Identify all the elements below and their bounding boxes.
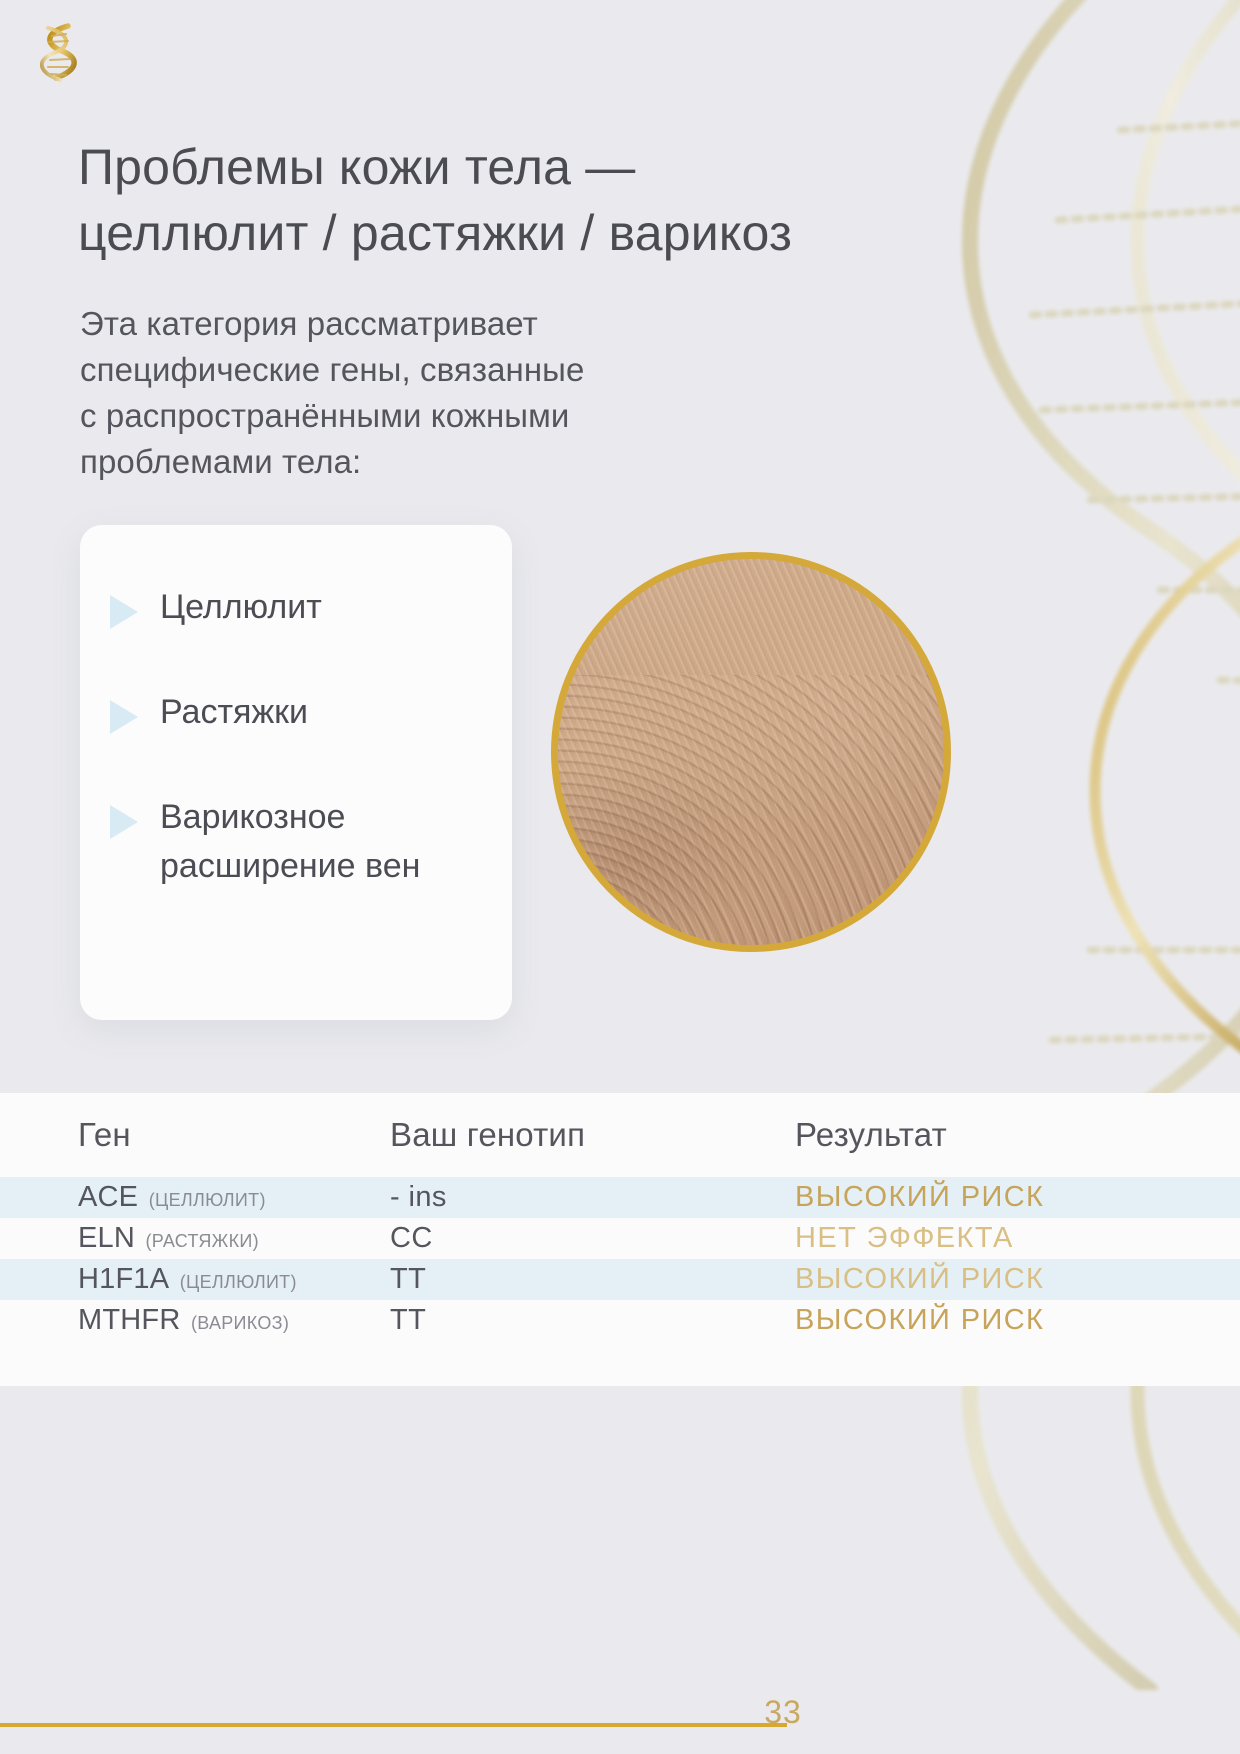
gene-name: ELN: [78, 1222, 135, 1254]
gene-tag: (ЦЕЛЛЮЛИТ): [149, 1190, 266, 1210]
table-row: ELN (РАСТЯЖКИ) CC НЕТ ЭФФЕКТА: [0, 1218, 1240, 1259]
list-item[interactable]: Варикозное расширение вен: [110, 793, 488, 891]
conditions-card: Целлюлит Растяжки Варикозное расширение …: [80, 525, 512, 1020]
cell-genotype: TT: [390, 1263, 795, 1296]
list-item-label: Растяжки: [160, 688, 308, 737]
column-header-gene: Ген: [78, 1116, 390, 1154]
skin-grain-overlay: [558, 559, 944, 945]
triangle-right-icon: [110, 805, 138, 839]
skin-texture-photo: [551, 552, 951, 952]
table-row: ACE (ЦЕЛЛЮЛИТ) - ins ВЫСОКИЙ РИСК: [0, 1177, 1240, 1218]
cell-result: ВЫСОКИЙ РИСК: [795, 1304, 1200, 1337]
page-title-line-1: Проблемы кожи тела —: [78, 139, 635, 195]
triangle-right-icon: [110, 700, 138, 734]
cell-gene: ACE (ЦЕЛЛЮЛИТ): [78, 1181, 390, 1214]
page-number: 33: [733, 1694, 833, 1731]
table-bottom-spacer: [0, 1341, 1240, 1386]
gene-tag: (ЦЕЛЛЮЛИТ): [180, 1272, 297, 1292]
cell-gene: H1F1A (ЦЕЛЛЮЛИТ): [78, 1263, 390, 1296]
table-header-row: Ген Ваш генотип Результат: [0, 1093, 1240, 1177]
list-item-label: Целлюлит: [160, 583, 322, 632]
skin-texture-fill: [558, 559, 944, 945]
list-item[interactable]: Целлюлит: [110, 583, 488, 632]
gene-tag: (ВАРИКОЗ): [191, 1313, 289, 1333]
triangle-right-icon: [110, 595, 138, 629]
cell-result: ВЫСОКИЙ РИСК: [795, 1181, 1200, 1214]
conditions-list: Целлюлит Растяжки Варикозное расширение …: [110, 583, 488, 891]
footer-divider: [0, 1723, 787, 1727]
intro-line-1: Эта категория рассматривает: [80, 305, 538, 342]
cell-genotype: CC: [390, 1222, 795, 1255]
gene-tag: (РАСТЯЖКИ): [145, 1231, 258, 1251]
gene-name: H1F1A: [78, 1263, 169, 1295]
list-item-label: Варикозное расширение вен: [160, 793, 488, 891]
intro-line-2: специфические гены, связанные: [80, 351, 584, 388]
intro-paragraph: Эта категория рассматривает специфически…: [80, 301, 800, 484]
genotype-results-table: Ген Ваш генотип Результат ACE (ЦЕЛЛЮЛИТ)…: [0, 1093, 1240, 1386]
page-title-line-2: целлюлит / растяжки / варикоз: [78, 205, 792, 261]
intro-line-3: с распространёнными кожными: [80, 397, 569, 434]
cell-gene: ELN (РАСТЯЖКИ): [78, 1222, 390, 1255]
cell-gene: MTHFR (ВАРИКОЗ): [78, 1304, 390, 1337]
list-item[interactable]: Растяжки: [110, 688, 488, 737]
table-row: MTHFR (ВАРИКОЗ) TT ВЫСОКИЙ РИСК: [0, 1300, 1240, 1341]
cell-genotype: TT: [390, 1304, 795, 1337]
cell-result: ВЫСОКИЙ РИСК: [795, 1263, 1200, 1296]
column-header-result: Результат: [795, 1116, 1200, 1154]
gene-name: MTHFR: [78, 1304, 180, 1336]
page-title: Проблемы кожи тела — целлюлит / растяжки…: [78, 134, 938, 267]
column-header-genotype: Ваш генотип: [390, 1116, 795, 1154]
dna-helix-icon: [28, 20, 86, 90]
intro-line-4: проблемами тела:: [80, 443, 361, 480]
gene-name: ACE: [78, 1181, 138, 1213]
table-row: H1F1A (ЦЕЛЛЮЛИТ) TT ВЫСОКИЙ РИСК: [0, 1259, 1240, 1300]
cell-result: НЕТ ЭФФЕКТА: [795, 1222, 1200, 1255]
cell-genotype: - ins: [390, 1181, 795, 1214]
